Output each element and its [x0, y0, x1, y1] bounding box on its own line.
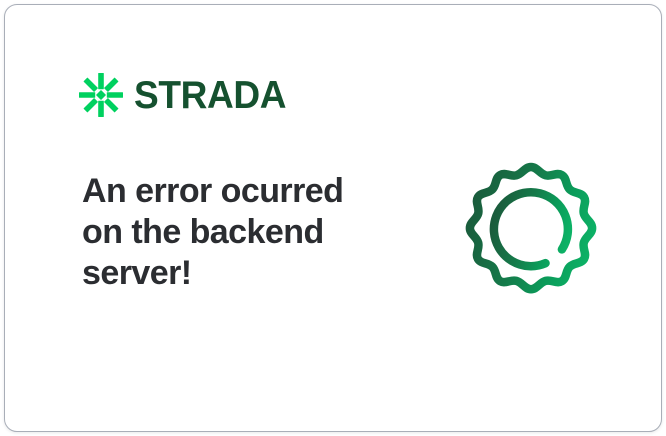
gear-cog-icon [449, 147, 613, 311]
error-card: STRADA An error ocurred on the backend s… [4, 4, 662, 432]
brand-logo: STRADA [79, 73, 294, 117]
brand-wordmark: STRADA [134, 76, 286, 115]
strada-asterisk-icon [79, 73, 123, 117]
error-message-text: An error ocurred on the backend server! [82, 171, 382, 294]
screen: STRADA An error ocurred on the backend s… [0, 0, 666, 436]
